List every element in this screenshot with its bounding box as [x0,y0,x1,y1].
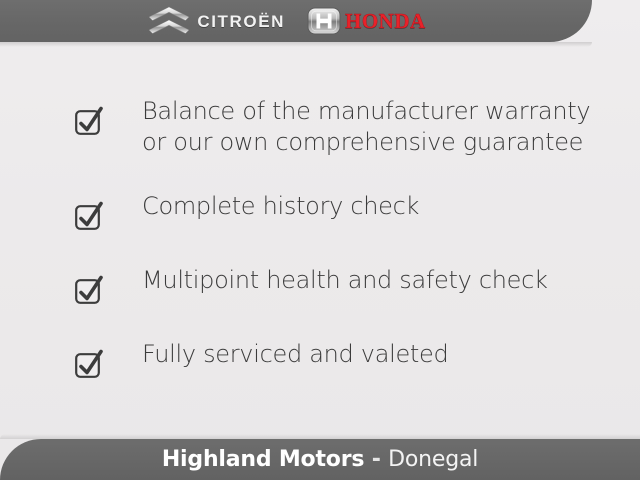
citroen-double-chevron-icon [148,6,190,36]
dealer-name: Highland Motors [162,447,364,472]
brand-logo-row: CITROËN [148,6,425,36]
slide-root: CITROËN [0,0,640,480]
checkbox-checked-icon [74,349,104,379]
citroen-wordmark: CITROËN [197,13,285,30]
honda-wordmark: HONDA [345,11,426,32]
list-item: Complete history check [74,191,594,231]
footer-bar: Highland Motors - Donegal [0,439,640,480]
header-bar: CITROËN [0,0,592,42]
list-item-label: Multipoint health and safety check [142,265,548,296]
list-item: Balance of the manufacturer warranty or … [74,96,594,157]
honda-h-emblem-icon [307,6,341,36]
checkbox-checked-icon [74,106,104,136]
list-item: Fully serviced and valeted [74,339,594,379]
list-item-label: Fully serviced and valeted [142,339,448,370]
dealer-location: Donegal [388,447,478,472]
checkbox-checked-icon [74,275,104,305]
feature-list: Balance of the manufacturer warranty or … [74,96,594,379]
list-item-label: Balance of the manufacturer warranty or … [142,96,590,157]
header-drop-shadow [0,42,592,47]
dealer-separator: - [364,447,388,472]
checkbox-checked-icon [74,201,104,231]
dealer-branding: Highland Motors - Donegal [162,449,478,471]
citroen-logo: CITROËN [148,6,285,36]
list-item-label: Complete history check [142,191,419,222]
list-item: Multipoint health and safety check [74,265,594,305]
honda-logo: HONDA [307,6,426,36]
